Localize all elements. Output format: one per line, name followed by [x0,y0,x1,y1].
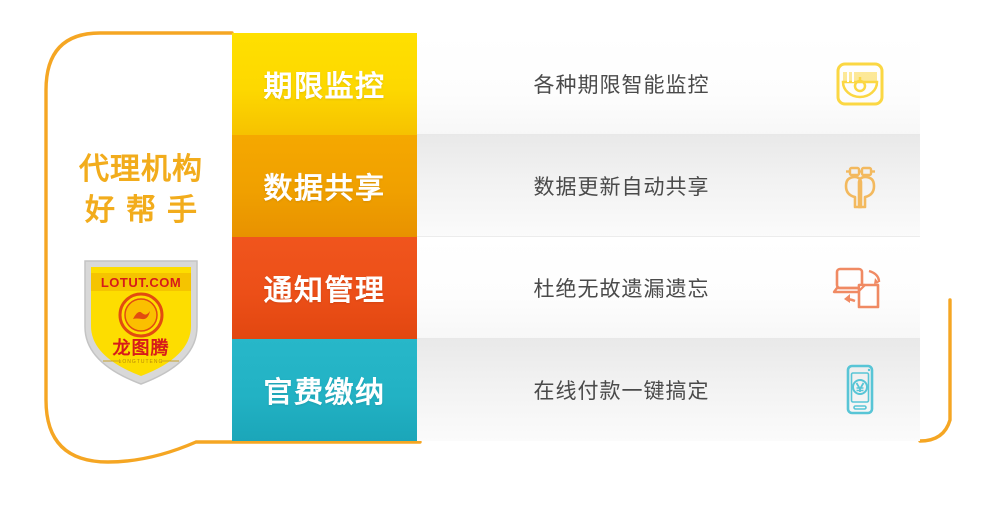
brand-title-line2: 好帮手 [74,191,208,232]
feature-row[interactable]: 通知管理 杜绝无故遗漏遗忘 [232,237,920,339]
feature-body: 数据更新自动共享 [417,135,920,237]
feature-row[interactable]: 数据共享 数据更新自动共享 [232,135,920,237]
brand-title-line1: 代理机构 [79,150,203,191]
feature-rows: 期限监控 各种期限智能监控 [232,33,920,441]
laptop-document-transfer-icon [800,261,920,315]
feature-description: 各种期限智能监控 [417,69,800,99]
brand-panel: 代理机构 好帮手 LOTUT.COM 龙图腾 LONGTUTENG [46,150,236,420]
mobile-payment-icon [800,362,920,418]
feature-description: 数据更新自动共享 [417,171,800,201]
feature-label-cell[interactable]: 通知管理 [232,237,417,339]
feature-label-cell[interactable]: 数据共享 [232,135,417,237]
feature-body: 各种期限智能监控 [417,33,920,135]
feature-description: 杜绝无故遗漏遗忘 [417,273,800,303]
infographic-canvas: 代理机构 好帮手 LOTUT.COM 龙图腾 LONGTUTENG [0,0,992,515]
logo-subtitle: LONGTUTENG [119,359,164,365]
briefcase-calendar-icon [800,57,920,111]
company-logo: LOTUT.COM 龙图腾 LONGTUTENG [79,253,203,389]
feature-row[interactable]: 期限监控 各种期限智能监控 [232,33,920,135]
logo-banner-text: LOTUT.COM [101,275,181,290]
two-heads-plug-icon [800,159,920,213]
feature-label-cell[interactable]: 期限监控 [232,33,417,135]
feature-row[interactable]: 官费缴纳 在线付款一键搞定 [232,339,920,441]
logo-chinese-name: 龙图腾 [113,337,170,358]
feature-label-text: 通知管理 [263,267,385,309]
feature-description: 在线付款一键搞定 [417,375,800,405]
feature-label-text: 官费缴纳 [263,369,385,411]
frame-right-path [920,300,950,441]
feature-body: 杜绝无故遗漏遗忘 [417,237,920,339]
feature-label-text: 期限监控 [263,63,385,105]
shield-logo-icon: LOTUT.COM 龙图腾 LONGTUTENG [79,253,203,389]
feature-label-cell[interactable]: 官费缴纳 [232,339,417,441]
feature-body: 在线付款一键搞定 [417,339,920,441]
feature-label-text: 数据共享 [263,165,385,207]
